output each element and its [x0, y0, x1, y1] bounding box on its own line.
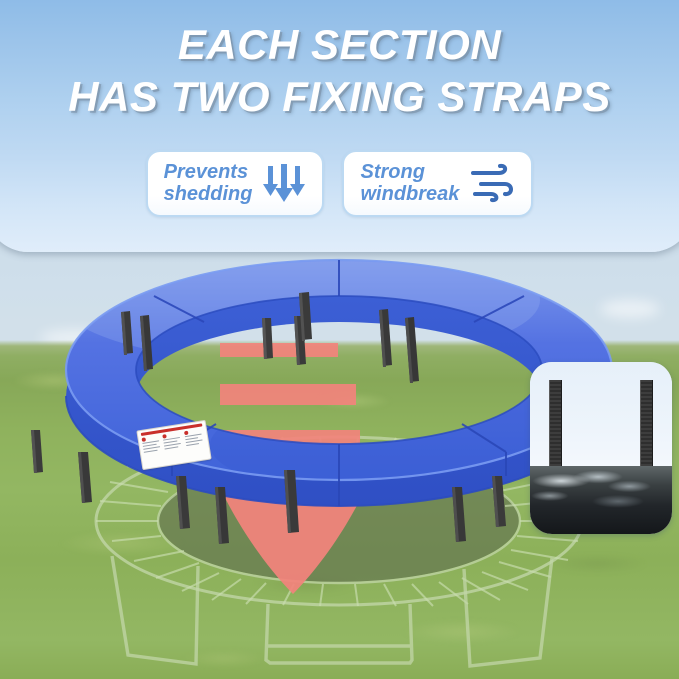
- wind-gust-icon: [469, 163, 515, 203]
- sticker-icon: [162, 434, 167, 439]
- sticker-icon: [184, 430, 189, 435]
- sticker-column: [162, 431, 184, 451]
- feature-badge-list: Prevents shedding Strong windbreak: [0, 150, 679, 217]
- cloud-shape: [600, 300, 660, 318]
- strap-closeup-detail: [530, 362, 672, 534]
- badge-label: Strong windbreak: [360, 161, 459, 206]
- feature-badge-strong-windbreak[interactable]: Strong windbreak: [342, 150, 533, 217]
- inset-mesh-fabric: [530, 466, 672, 534]
- feature-badge-prevents-shedding[interactable]: Prevents shedding: [146, 150, 325, 217]
- inset-strap: [549, 380, 562, 472]
- sticker-text-line: [186, 443, 200, 447]
- infographic-canvas: EACH SECTION HAS TWO FIXING STRAPS Preve…: [0, 0, 679, 679]
- sticker-column: [184, 428, 206, 448]
- sticker-icon: [141, 437, 146, 442]
- inset-strap: [640, 380, 653, 472]
- sticker-column: [141, 434, 163, 454]
- sticker-text-line: [144, 449, 158, 453]
- sticker-text-line: [165, 446, 179, 450]
- badge-label: Prevents shedding: [164, 161, 253, 206]
- triple-down-arrow-icon: [262, 162, 306, 204]
